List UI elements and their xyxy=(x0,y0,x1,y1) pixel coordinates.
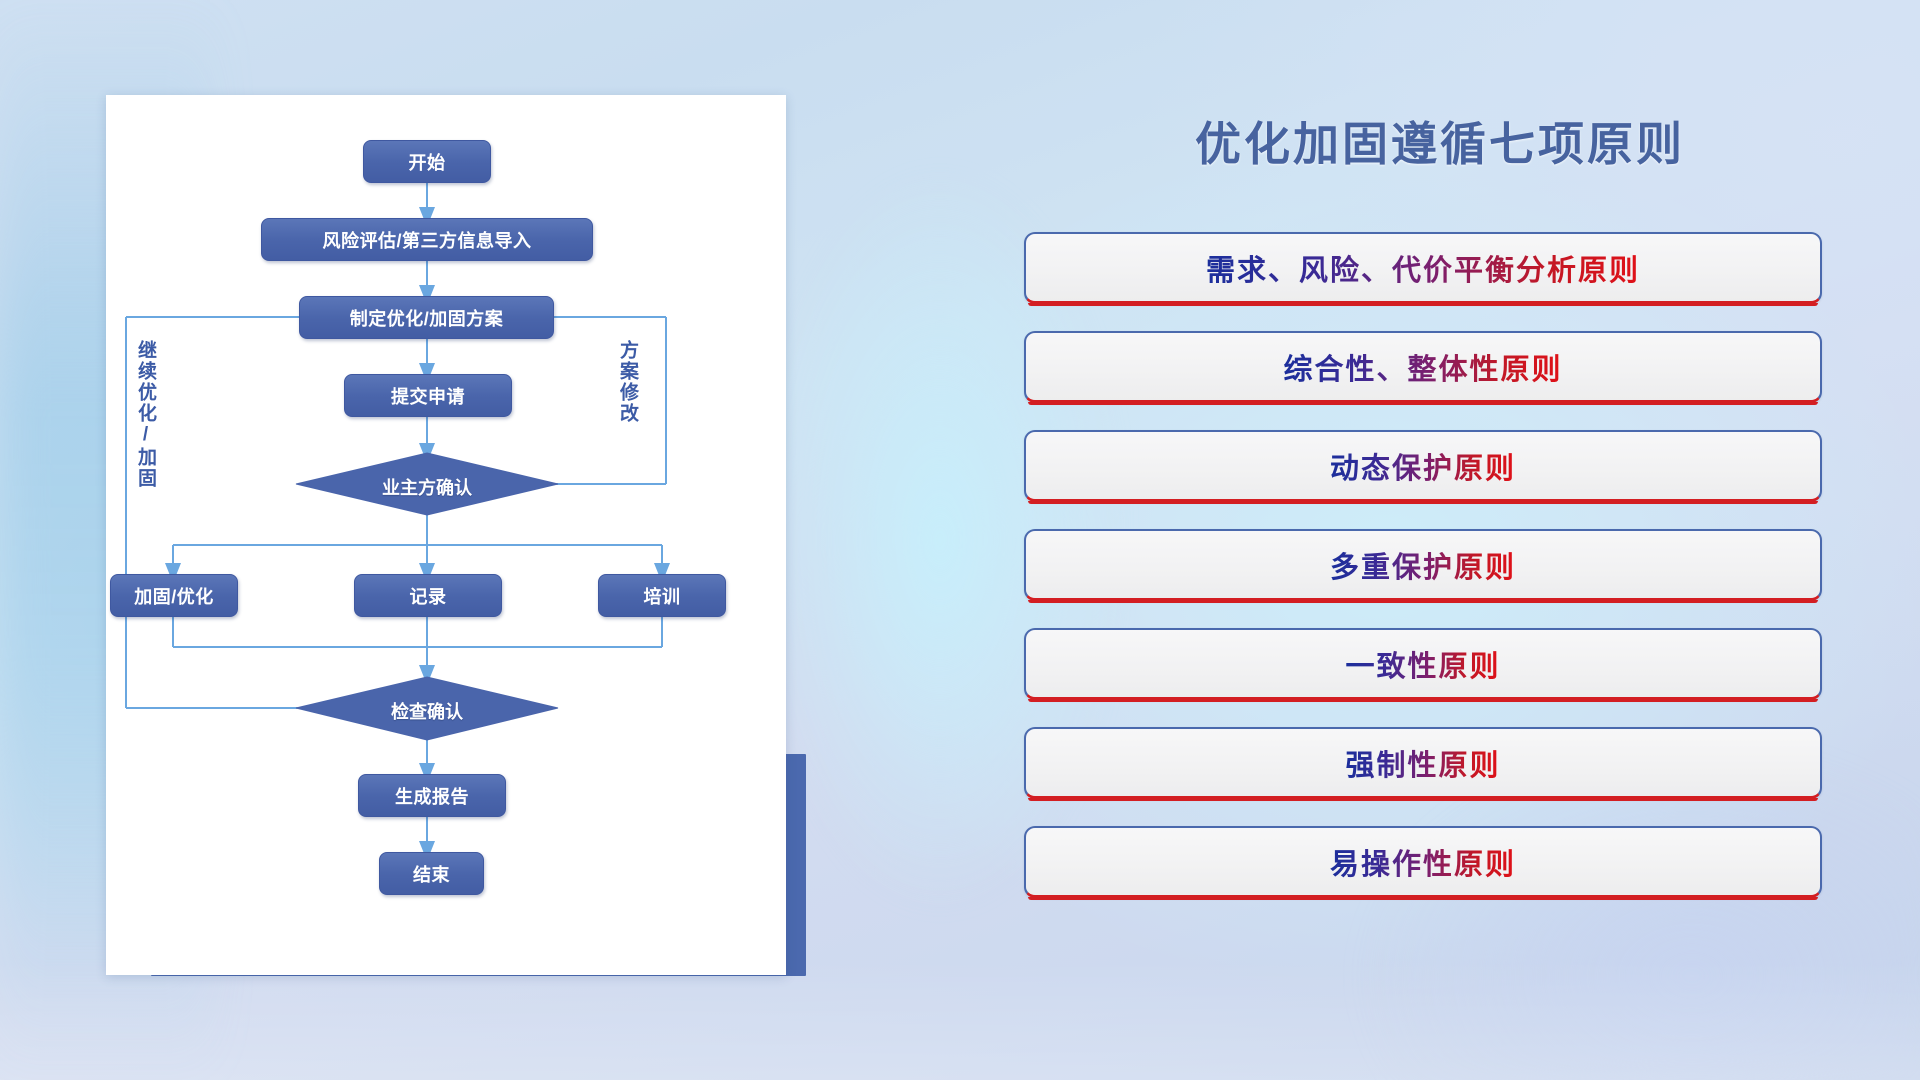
principle-card-3[interactable]: 动态保护原则 xyxy=(1024,430,1822,502)
principle-card-1-label: 需求、风险、代价平衡分析原则 xyxy=(1206,247,1640,289)
flow-node-end-label: 结束 xyxy=(413,861,450,887)
principle-card-4[interactable]: 多重保护原则 xyxy=(1024,529,1822,601)
principle-card-6[interactable]: 强制性原则 xyxy=(1024,727,1822,799)
flow-node-risk-assessment-label: 风险评估/第三方信息导入 xyxy=(323,227,532,253)
flow-edge-label-continue-optimize: 继续优化/加固 xyxy=(136,340,155,489)
principle-card-2-label: 综合性、整体性原则 xyxy=(1283,346,1562,388)
flow-node-record-label: 记录 xyxy=(410,583,447,609)
flow-node-end: 结束 xyxy=(379,852,484,895)
principle-card-6-label: 强制性原则 xyxy=(1345,742,1500,784)
flow-node-reinforce-label: 加固/优化 xyxy=(134,583,214,609)
flow-node-generate-report-label: 生成报告 xyxy=(395,783,469,809)
principle-card-3-label: 动态保护原则 xyxy=(1330,445,1516,487)
principle-card-4-label: 多重保护原则 xyxy=(1330,544,1516,586)
flow-node-reinforce: 加固/优化 xyxy=(110,574,238,617)
principle-card-2[interactable]: 综合性、整体性原则 xyxy=(1024,331,1822,403)
flow-node-owner-confirm-label: 业主方确认 xyxy=(296,474,558,500)
principle-card-5-label: 一致性原则 xyxy=(1345,643,1500,685)
flow-node-risk-assessment: 风险评估/第三方信息导入 xyxy=(261,218,593,261)
principle-card-7[interactable]: 易操作性原则 xyxy=(1024,826,1822,898)
flow-edge-label-plan-revision: 方案修改 xyxy=(618,340,637,424)
flow-node-submit-application-label: 提交申请 xyxy=(391,383,465,409)
flow-node-start: 开始 xyxy=(363,140,491,183)
principles-list: 需求、风险、代价平衡分析原则 综合性、整体性原则 动态保护原则 多重保护原则 一… xyxy=(1024,232,1822,925)
background-bottom-sheen xyxy=(0,960,1920,1080)
flow-node-submit-application: 提交申请 xyxy=(344,374,512,417)
flow-node-make-plan-label: 制定优化/加固方案 xyxy=(350,305,504,331)
flowchart-card: 开始 风险评估/第三方信息导入 制定优化/加固方案 提交申请 业主方确认 加固/… xyxy=(106,95,786,975)
page-title: 优化加固遵循七项原则 xyxy=(1030,108,1850,174)
principle-card-7-label: 易操作性原则 xyxy=(1330,841,1516,883)
flow-node-generate-report: 生成报告 xyxy=(358,774,506,817)
flow-node-record: 记录 xyxy=(354,574,502,617)
flow-node-make-plan: 制定优化/加固方案 xyxy=(299,296,554,339)
flow-node-start-label: 开始 xyxy=(409,149,446,175)
flow-node-training: 培训 xyxy=(598,574,726,617)
principle-card-5[interactable]: 一致性原则 xyxy=(1024,628,1822,700)
principle-card-1[interactable]: 需求、风险、代价平衡分析原则 xyxy=(1024,232,1822,304)
flow-node-training-label: 培训 xyxy=(644,583,681,609)
flow-node-check-confirm-label: 检查确认 xyxy=(296,698,558,724)
